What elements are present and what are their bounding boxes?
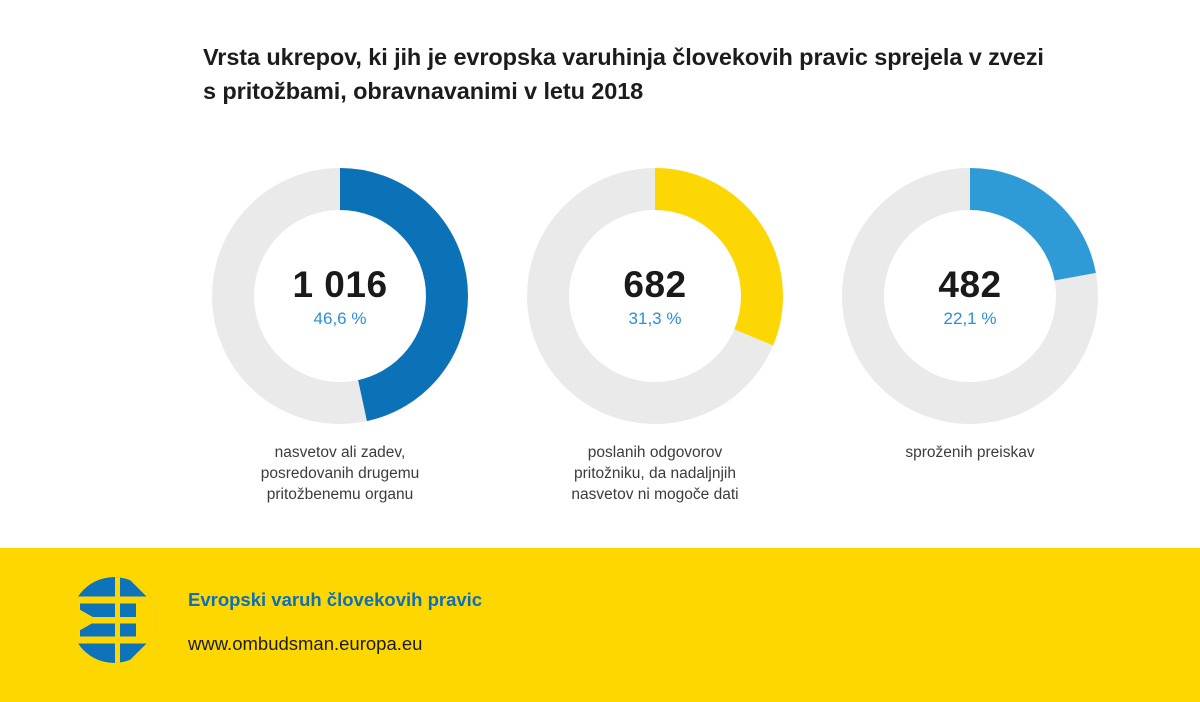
page-title: Vrsta ukrepov, ki jih je evropska varuhi… [203, 40, 1063, 108]
footer-text-block: Evropski varuh človekovih pravic www.omb… [188, 587, 482, 654]
infographic-page: Vrsta ukrepov, ki jih je evropska varuhi… [0, 0, 1200, 702]
donut-chart-1: 1 016 46,6 % [212, 168, 468, 424]
footer-website-url[interactable]: www.ombudsman.europa.eu [188, 635, 482, 654]
donut-caption-2-line-1: poslanih odgovorov [523, 442, 787, 463]
donut-chart-3: 482 22,1 % [842, 168, 1098, 424]
donut-caption-1-line-2: posredovanih drugemu [208, 463, 472, 484]
donut-caption-2-line-3: nasvetov ni mogoče dati [523, 484, 787, 505]
donut-caption-2-line-2: pritožniku, da nadaljnjih [523, 463, 787, 484]
footer-organisation-name: Evropski varuh človekovih pravic [188, 591, 482, 610]
donut-block-2: 682 31,3 % poslanih odgovorov pritožniku… [505, 168, 805, 518]
footer-content: Evropski varuh človekovih pravic www.omb… [68, 574, 482, 666]
donut-chart-2: 682 31,3 % [527, 168, 783, 424]
donut-chart-row: 1 016 46,6 % nasvetov ali zadev, posredo… [0, 168, 1200, 518]
donut-caption-1-line-1: nasvetov ali zadev, [208, 442, 472, 463]
donut-caption-3: sproženih preiskav [820, 442, 1120, 463]
european-ombudsman-logo-icon [68, 574, 160, 666]
donut-block-3: 482 22,1 % sproženih preiskav [820, 168, 1120, 518]
donut-svg-3 [842, 168, 1098, 424]
donut-block-1: 1 016 46,6 % nasvetov ali zadev, posredo… [190, 168, 490, 518]
donut-caption-3-line-1: sproženih preiskav [838, 442, 1102, 463]
donut-svg-2 [527, 168, 783, 424]
donut-svg-1 [212, 168, 468, 424]
donut-caption-1: nasvetov ali zadev, posredovanih drugemu… [190, 442, 490, 505]
footer-band: Evropski varuh človekovih pravic www.omb… [0, 548, 1200, 702]
donut-caption-1-line-3: pritožbenemu organu [208, 484, 472, 505]
donut-caption-2: poslanih odgovorov pritožniku, da nadalj… [505, 442, 805, 505]
